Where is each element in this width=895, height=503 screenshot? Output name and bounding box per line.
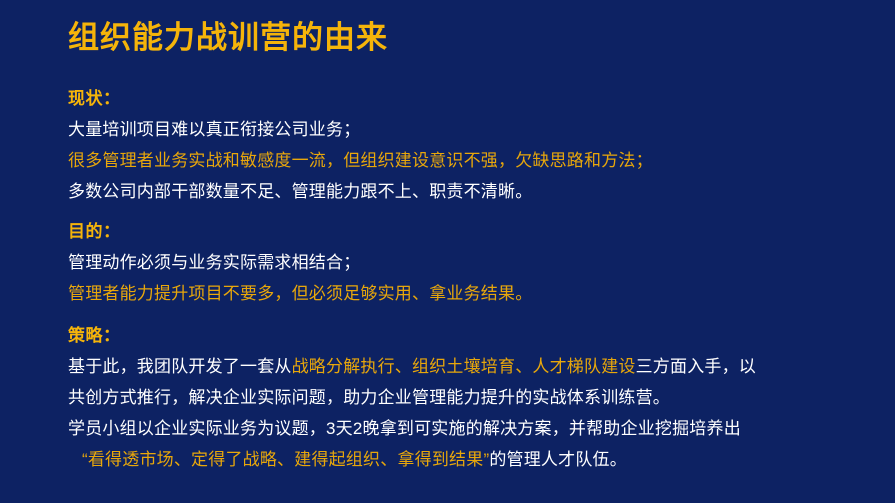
section-purpose: 目的： 管理动作必须与业务实际需求相结合； 管理者能力提升项目不要多，但必须足够… bbox=[68, 217, 868, 309]
slide-body: 现状： 大量培训项目难以真正衔接公司业务； 很多管理者业务实战和敏感度一流，但组… bbox=[68, 84, 868, 477]
strategy-line-3: 学员小组以企业实际业务为议题，3天2晚拿到可实施的解决方案，并帮助企业挖掘培养出 bbox=[68, 413, 868, 444]
slide-canvas: 组织能力战训营的由来 现状： 大量培训项目难以真正衔接公司业务； 很多管理者业务… bbox=[0, 0, 895, 503]
status-line-1: 大量培训项目难以真正衔接公司业务； bbox=[68, 114, 868, 145]
strategy-line-4: “看得透市场、定得了战略、建得起组织、拿得到结果”的管理人才队伍。 bbox=[68, 444, 868, 475]
section-strategy: 策略： 基于此，我团队开发了一套从战略分解执行、组织土壤培育、人才梯队建设三方面… bbox=[68, 321, 868, 475]
purpose-line-1: 管理动作必须与业务实际需求相结合； bbox=[68, 247, 868, 278]
strategy-line-4-quote: “看得透市场、定得了战略、建得起组织、拿得到结果” bbox=[82, 450, 489, 469]
section-heading-purpose: 目的： bbox=[68, 217, 868, 247]
strategy-line-1-prefix: 基于此，我团队开发了一套从 bbox=[68, 357, 292, 376]
strategy-line-1-suffix: 三方面入手，以 bbox=[636, 357, 756, 376]
section-status: 现状： 大量培训项目难以真正衔接公司业务； 很多管理者业务实战和敏感度一流，但组… bbox=[68, 84, 868, 207]
strategy-line-2: 共创方式推行，解决企业实际问题，助力企业管理能力提升的实战体系训练营。 bbox=[68, 382, 868, 413]
status-line-2: 很多管理者业务实战和敏感度一流，但组织建设意识不强，欠缺思路和方法； bbox=[68, 145, 868, 176]
section-heading-strategy: 策略： bbox=[68, 321, 868, 351]
strategy-line-4-suffix: 的管理人才队伍。 bbox=[489, 450, 627, 469]
strategy-line-1: 基于此，我团队开发了一套从战略分解执行、组织土壤培育、人才梯队建设三方面入手，以 bbox=[68, 351, 868, 382]
strategy-line-1-highlight: 战略分解执行、组织土壤培育、人才梯队建设 bbox=[292, 357, 636, 376]
status-line-3: 多数公司内部干部数量不足、管理能力跟不上、职责不清晰。 bbox=[68, 176, 868, 207]
page-title: 组织能力战训营的由来 bbox=[68, 18, 388, 58]
purpose-line-2: 管理者能力提升项目不要多，但必须足够实用、拿业务结果。 bbox=[68, 278, 868, 309]
section-heading-status: 现状： bbox=[68, 84, 868, 114]
